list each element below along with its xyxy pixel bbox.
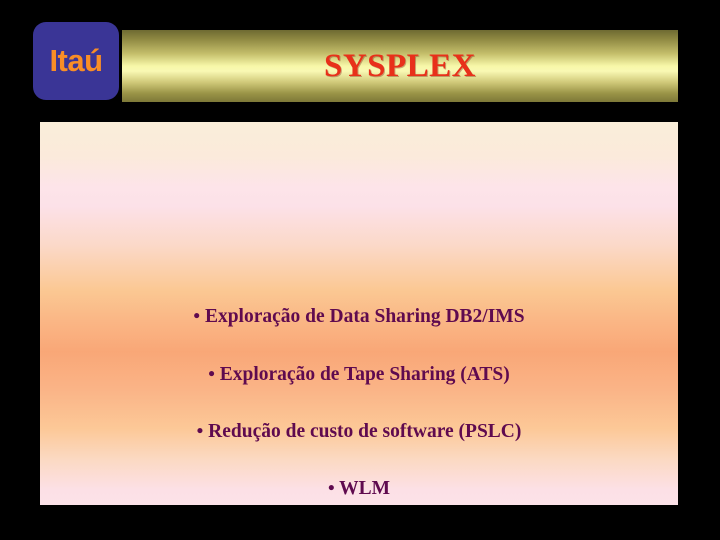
bullet-marker-icon: • xyxy=(208,364,215,385)
list-item: • Redução de custo de software (PSLC) xyxy=(40,422,678,442)
bullet-text: Exploração de Tape Sharing (ATS) xyxy=(220,364,510,385)
presentation-slide: SYSPLEX Itaú • Exploração de Data Sharin… xyxy=(0,0,720,540)
bullet-marker-icon: • xyxy=(328,478,335,499)
itau-logo-text: Itaú xyxy=(49,45,102,78)
bullet-marker-icon: • xyxy=(193,306,200,327)
itau-logo: Itaú xyxy=(33,22,119,100)
bullet-text: Exploração de Data Sharing DB2/IMS xyxy=(205,306,525,327)
bullet-text: WLM xyxy=(339,478,390,499)
list-item: • WLM xyxy=(40,479,678,499)
slide-title: SYSPLEX xyxy=(122,30,678,102)
list-item: • Exploração de Data Sharing DB2/IMS xyxy=(40,307,678,327)
bullet-text: Redução de custo de software (PSLC) xyxy=(208,421,521,442)
slide-content-panel: • Exploração de Data Sharing DB2/IMS • E… xyxy=(40,122,678,505)
bullet-list: • Exploração de Data Sharing DB2/IMS • E… xyxy=(40,122,678,505)
list-item: • Exploração de Tape Sharing (ATS) xyxy=(40,365,678,385)
bullet-marker-icon: • xyxy=(197,421,204,442)
